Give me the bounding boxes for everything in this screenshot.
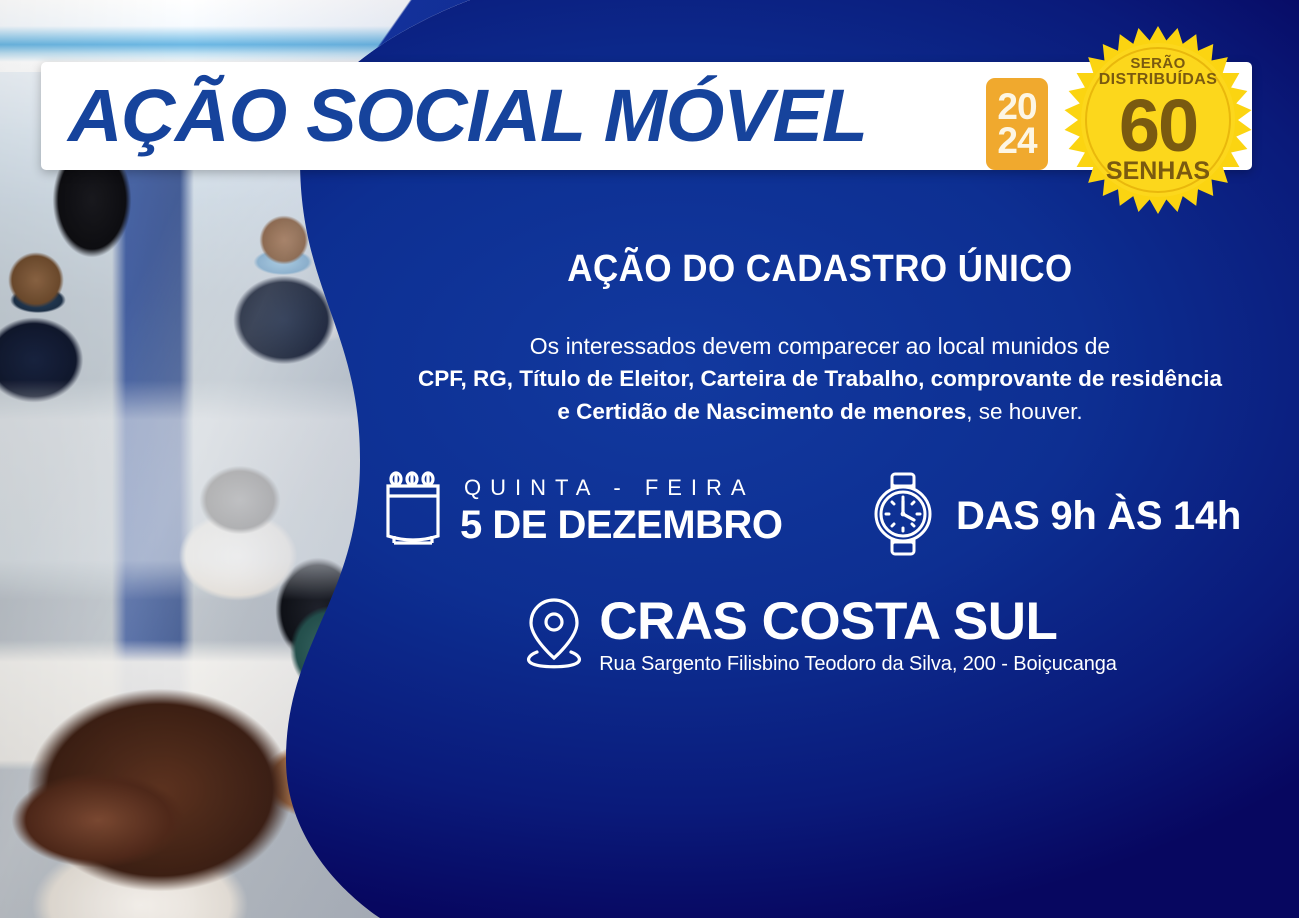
year-bottom: 24: [997, 124, 1036, 158]
date-label: 5 DE DEZEMBRO: [460, 503, 782, 548]
badge-number: 60: [1119, 89, 1197, 163]
place-name: CRAS COSTA SUL: [599, 595, 1117, 648]
paragraph-line-2: CPF, RG, Título de Eleitor, Carteira de …: [370, 363, 1270, 396]
badge-line1-text: SERÃO: [1130, 55, 1185, 72]
place-inner: CRAS COSTA SUL Rua Sargento Filisbino Te…: [370, 592, 1270, 679]
paragraph-line-1: Os interessados devem comparecer ao loca…: [370, 330, 1270, 363]
date-block: QUINTA - FEIRA 5 DE DEZEMBRO: [382, 470, 782, 553]
badge-line3: SENHAS: [1106, 159, 1210, 184]
paragraph-line-3: e Certidão de Nascimento de menores, se …: [370, 396, 1270, 429]
starburst-label: SERÃO DISTRIBUÍDAS 60 SENHAS: [1062, 24, 1254, 216]
poster-root: AÇÃO SOCIAL MÓVEL 20 24 SERÃO DISTRIBUÍD…: [0, 0, 1299, 918]
tickets-starburst-badge: SERÃO DISTRIBUÍDAS 60 SENHAS: [1062, 24, 1254, 216]
watch-icon: [868, 470, 938, 563]
calendar-icon: [382, 470, 444, 553]
year-top: 20: [997, 90, 1036, 124]
location-pin-icon: [523, 592, 585, 679]
requirements-paragraph: Os interessados devem comparecer ao loca…: [370, 330, 1270, 429]
date-time-row: QUINTA - FEIRA 5 DE DEZEMBRO DAS 9h À: [370, 470, 1270, 575]
time-block: DAS 9h ÀS 14h: [868, 470, 1241, 563]
place-row: CRAS COSTA SUL Rua Sargento Filisbino Te…: [370, 592, 1270, 692]
date-texts: QUINTA - FEIRA 5 DE DEZEMBRO: [460, 475, 782, 548]
section-headline: AÇÃO DO CADASTRO ÚNICO: [406, 248, 1234, 291]
paragraph-line-3-bold: e Certidão de Nascimento de menores: [557, 399, 966, 424]
paragraph-line-3-soft: , se houver.: [966, 399, 1082, 424]
place-address: Rua Sargento Filisbino Teodoro da Silva,…: [599, 653, 1117, 676]
time-label: DAS 9h ÀS 14h: [956, 494, 1241, 539]
weekday-label: QUINTA - FEIRA: [464, 475, 782, 501]
year-badge: 20 24: [986, 78, 1048, 170]
footer: ♥ ♟ ✿ JUNTOS SOMOS MELHORES Conhecer par…: [0, 748, 1299, 918]
place-texts: CRAS COSTA SUL Rua Sargento Filisbino Te…: [599, 595, 1117, 676]
page-title: AÇÃO SOCIAL MÓVEL: [68, 79, 867, 153]
